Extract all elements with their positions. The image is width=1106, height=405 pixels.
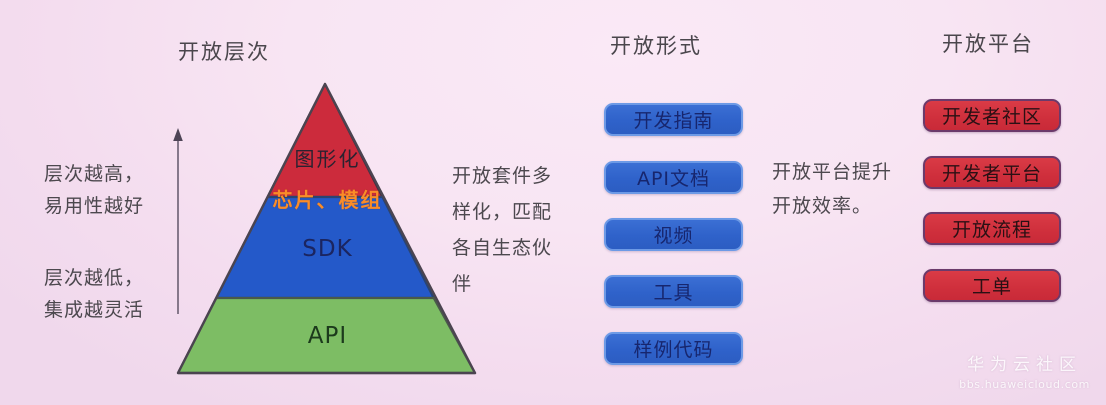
form-item-api-doc[interactable]: API文档 — [604, 161, 743, 194]
watermark: 华为云社区 bbs.huaweicloud.com — [959, 350, 1090, 391]
form-item-sample-code[interactable]: 样例代码 — [604, 332, 743, 365]
watermark-name: 华为云社区 — [959, 350, 1090, 375]
form-item-tools[interactable]: 工具 — [604, 275, 743, 308]
column-title-platform: 开放平台 — [942, 28, 1034, 58]
platform-item-ticket[interactable]: 工单 — [923, 269, 1061, 302]
note-open-platform-efficiency: 开放平台提升 开放效率。 — [772, 155, 892, 223]
form-item-dev-guide[interactable]: 开发指南 — [604, 103, 743, 136]
watermark-url: bbs.huaweicloud.com — [959, 378, 1090, 391]
platform-item-dev-platform[interactable]: 开发者平台 — [923, 156, 1061, 189]
form-item-video[interactable]: 视频 — [604, 218, 743, 251]
note-open-kits: 开放套件多 样化，匹配 各自生态伙 伴 — [452, 158, 552, 302]
note-higher-level: 层次越高， 易用性越好 — [44, 158, 144, 222]
platform-item-open-process[interactable]: 开放流程 — [923, 212, 1061, 245]
platform-item-dev-community[interactable]: 开发者社区 — [923, 99, 1061, 132]
column-title-levels: 开放层次 — [178, 36, 270, 66]
pyramid-layer-sdk — [216, 197, 433, 298]
slide-canvas: 开放层次 开放形式 开放平台 层次越高， 易用性越好 层次越低， 集成越灵活 图… — [0, 0, 1106, 405]
note-lower-level: 层次越低， 集成越灵活 — [44, 262, 144, 326]
column-title-forms: 开放形式 — [610, 30, 702, 60]
pyramid-layer-api — [178, 298, 475, 373]
pyramid-layer-graphic — [268, 84, 383, 197]
open-levels-pyramid: 图形化 芯片、模组 SDK API — [170, 76, 485, 381]
